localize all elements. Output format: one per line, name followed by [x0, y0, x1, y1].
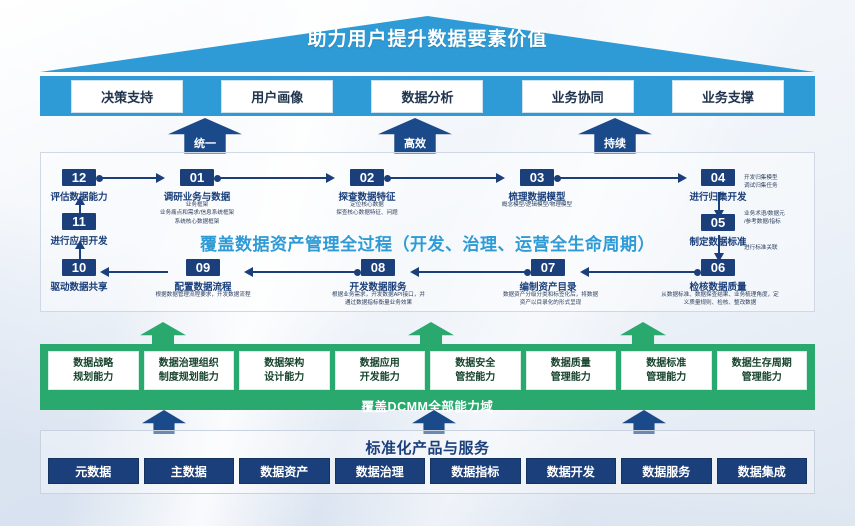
capability-line1: 数据质量	[529, 357, 614, 371]
statement-arrow-sustained: 持续	[578, 118, 652, 154]
step-number-08[interactable]: 08	[361, 259, 395, 276]
statement-arrow-label: 统一	[194, 135, 216, 151]
products-row: 元数据 主数据 数据资产 数据治理 数据指标 数据开发 数据服务 数据集成	[48, 458, 807, 484]
capability-line2: 管控能力	[433, 371, 518, 385]
connector-line	[418, 271, 528, 273]
connector-dot	[354, 269, 361, 276]
value-chip-data-analysis[interactable]: 数据分析	[371, 80, 483, 113]
connector-line	[108, 271, 168, 273]
connector-line	[252, 271, 358, 273]
product-chip-data-asset[interactable]: 数据资产	[239, 458, 330, 484]
capability-line1: 数据安全	[433, 357, 518, 371]
product-chip-data-development[interactable]: 数据开发	[526, 458, 617, 484]
connector-arrow-left	[100, 267, 109, 277]
step-title-04: 进行归集开发	[668, 189, 768, 203]
value-bar: 决策支持 用户画像 数据分析 业务协同 业务支撑	[40, 76, 815, 116]
step-number-10[interactable]: 10	[62, 259, 96, 276]
capability-line2: 设计能力	[242, 371, 327, 385]
statement-arrow-efficient: 高效	[378, 118, 452, 154]
connector-arrow-left	[410, 267, 419, 277]
capability-line2: 管理能力	[720, 371, 805, 385]
process-center-caption: 覆盖数据资产管理全过程（开发、治理、运营全生命周期）	[40, 230, 815, 255]
connector-dot	[96, 175, 103, 182]
step-number-11[interactable]: 11	[62, 213, 96, 230]
green-arrow-left	[140, 322, 186, 346]
roof-title: 助力用户提升数据要素价值	[0, 24, 855, 51]
step-desc-02: 定位核心数据 探查核心数据特征、问题	[305, 201, 429, 218]
step-number-01[interactable]: 01	[180, 169, 214, 186]
connector-line	[218, 177, 328, 179]
product-chip-data-integration[interactable]: 数据集成	[717, 458, 808, 484]
capability-chip-application[interactable]: 数据应用 开发能力	[335, 351, 426, 390]
capability-chip-strategy[interactable]: 数据战略 规划能力	[48, 351, 139, 390]
connector-dot	[384, 175, 391, 182]
step-number-09[interactable]: 09	[186, 259, 220, 276]
value-chip-user-profile[interactable]: 用户画像	[221, 80, 333, 113]
green-arrow-right	[620, 322, 666, 346]
capability-line2: 规划能力	[51, 371, 136, 385]
step-desc-01: 业务框架 业务痛点和需求/信息系统框架 系统核心数据框架	[132, 201, 262, 226]
connector-dot	[524, 269, 531, 276]
step-desc-06: 从数据标准、数据探查结果、业务梳理角度，定 义质量规则、检核、整改数据	[640, 291, 800, 308]
capability-chip-lifecycle[interactable]: 数据生存周期 管理能力	[717, 351, 808, 390]
step-desc-05-terms: 业务术语/数据元 /参考数据/指标	[744, 210, 814, 227]
step-desc-09: 根据数据管理流程要求，开发数据流程	[133, 291, 273, 299]
step-number-04[interactable]: 04	[701, 169, 735, 186]
connector-arrow-right	[326, 173, 335, 183]
connector-arrow-right	[496, 173, 505, 183]
step-desc-08: 根据业务需求，开发数据API接口，并 通过数据指标衡量业务效果	[306, 291, 451, 308]
product-chip-metadata[interactable]: 元数据	[48, 458, 139, 484]
capability-chip-quality[interactable]: 数据质量 管理能力	[526, 351, 617, 390]
statement-arrow-label: 高效	[404, 135, 426, 151]
connector-dot	[694, 269, 701, 276]
step-title-12: 评估数据能力	[34, 189, 124, 203]
capability-line2: 管理能力	[529, 371, 614, 385]
step-number-06[interactable]: 06	[701, 259, 735, 276]
connector-dot	[214, 175, 221, 182]
connector-arrow-left	[580, 267, 589, 277]
statement-arrow-unified: 统一	[168, 118, 242, 154]
step-desc-04: 开发归集模型 调试归集任务	[744, 174, 810, 191]
step-title-10: 驱动数据共享	[34, 279, 124, 293]
capability-line1: 数据生存周期	[720, 357, 805, 371]
connector-line	[558, 177, 680, 179]
capability-chip-standard[interactable]: 数据标准 管理能力	[621, 351, 712, 390]
step-number-05[interactable]: 05	[701, 214, 735, 231]
product-chip-data-metrics[interactable]: 数据指标	[430, 458, 521, 484]
connector-line	[100, 177, 158, 179]
product-chip-data-governance[interactable]: 数据治理	[335, 458, 426, 484]
value-chip-business-support[interactable]: 业务支撑	[672, 80, 784, 113]
value-chip-business-collab[interactable]: 业务协同	[522, 80, 634, 113]
green-arrow-center	[408, 322, 454, 346]
step-number-02[interactable]: 02	[350, 169, 384, 186]
step-desc-07: 数据资产分级分类和标签化后，将数据 资产以目录化的形式呈现	[478, 291, 623, 308]
connector-arrow-right	[156, 173, 165, 183]
connector-arrow-right	[678, 173, 687, 183]
connector-arrow-left	[244, 267, 253, 277]
connector-line	[588, 271, 698, 273]
capability-line2: 管理能力	[624, 371, 709, 385]
capability-chip-architecture[interactable]: 数据架构 设计能力	[239, 351, 330, 390]
statement-arrow-label: 持续	[604, 135, 626, 151]
step-number-12[interactable]: 12	[62, 169, 96, 186]
capability-line2: 开发能力	[338, 371, 423, 385]
capability-line1: 数据战略	[51, 357, 136, 371]
product-chip-master-data[interactable]: 主数据	[144, 458, 235, 484]
capability-chip-governance-org[interactable]: 数据治理组织 制度规划能力	[144, 351, 235, 390]
value-chip-decision[interactable]: 决策支持	[71, 80, 183, 113]
capability-line1: 数据标准	[624, 357, 709, 371]
product-chip-data-service[interactable]: 数据服务	[621, 458, 712, 484]
capability-line1: 数据架构	[242, 357, 327, 371]
capability-band: 数据战略 规划能力 数据治理组织 制度规划能力 数据架构 设计能力 数据应用 开…	[40, 344, 815, 410]
step-number-07[interactable]: 07	[531, 259, 565, 276]
step-number-03[interactable]: 03	[520, 169, 554, 186]
products-caption: 标准化产品与服务	[40, 437, 815, 458]
capability-line1: 数据应用	[338, 357, 423, 371]
connector-line	[388, 177, 498, 179]
step-desc-03: 概念模型/逻辑模型/物理模型	[477, 201, 597, 209]
connector-dot	[554, 175, 561, 182]
capability-line2: 制度规划能力	[147, 371, 232, 385]
capability-line1: 数据治理组织	[147, 357, 232, 371]
capability-row: 数据战略 规划能力 数据治理组织 制度规划能力 数据架构 设计能力 数据应用 开…	[48, 351, 807, 390]
capability-chip-security[interactable]: 数据安全 管控能力	[430, 351, 521, 390]
